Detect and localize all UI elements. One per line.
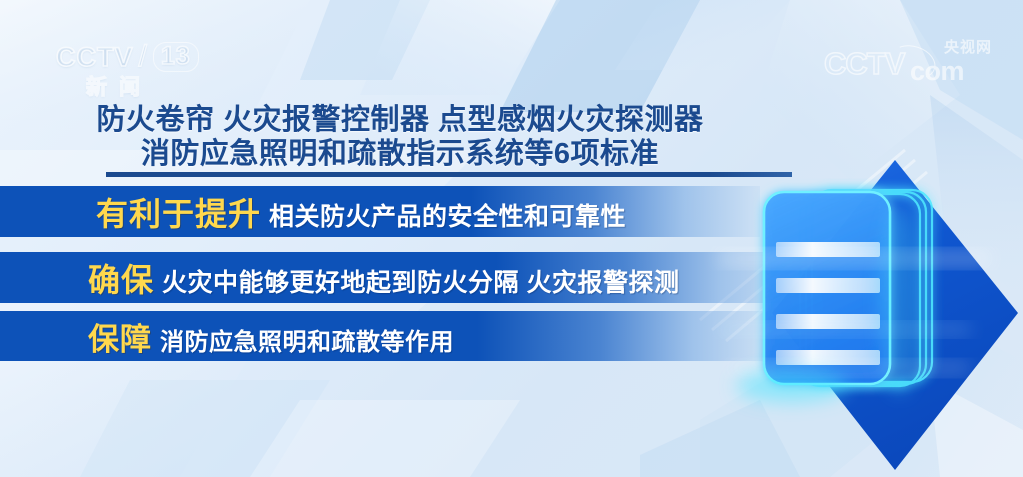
point-bar-3-text: 保障 消防应急照明和疏散等作用 (0, 314, 454, 359)
cctv-com-watermark: CCTV com 央视网 (824, 40, 996, 86)
cctv-channel-name: 新闻 (86, 77, 226, 98)
document-stack-graphic (700, 150, 1023, 477)
cctv-logo-row: CCTV / 13 (56, 42, 226, 72)
point-bar-1-text: 有利于提升 相关防火产品的安全性和可靠性 (0, 189, 626, 235)
point-bar-3-detail: 消防应急照明和疏散等作用 (160, 322, 454, 357)
cctv-13-logo: CCTV / 13 新闻 (56, 42, 226, 98)
point-bar-1-keyword: 有利于提升 (96, 189, 261, 235)
broadcast-graphic: CCTV / 13 新闻 CCTV com 央视网 防火卷帘 火灾报警控制器 点… (0, 0, 1023, 477)
document-stack-icon (700, 150, 1023, 477)
watermark-chinese-text: 央视网 (944, 40, 992, 55)
point-bar-1-detail: 相关防火产品的安全性和可靠性 (269, 197, 626, 233)
headline-line-1: 防火卷帘 火灾报警控制器 点型感烟火灾探测器 (0, 103, 800, 137)
point-bar-1: 有利于提升 相关防火产品的安全性和可靠性 (0, 186, 760, 237)
point-bar-2: 确保 火灾中能够更好地起到防火分隔 火灾报警探测 (0, 252, 800, 303)
cctv-logo-slash: / (139, 42, 148, 72)
point-bar-2-detail: 火灾中能够更好地起到防火分隔 火灾报警探测 (162, 263, 679, 299)
watermark-domain-text: com (910, 58, 964, 85)
point-bar-3: 保障 消防应急照明和疏散等作用 (0, 311, 770, 361)
headline-line-2: 消防应急照明和疏散指示系统等6项标准 (0, 137, 800, 171)
point-bar-2-keyword: 确保 (88, 255, 154, 301)
headline-divider (106, 172, 792, 177)
cctv-brand-text: CCTV (56, 44, 134, 71)
page-title: 防火卷帘 火灾报警控制器 点型感烟火灾探测器 消防应急照明和疏散指示系统等6项标… (0, 103, 800, 171)
point-bar-2-text: 确保 火灾中能够更好地起到防火分隔 火灾报警探测 (0, 255, 679, 301)
cctv-channel-number: 13 (153, 42, 199, 72)
point-bar-3-keyword: 保障 (88, 314, 152, 359)
